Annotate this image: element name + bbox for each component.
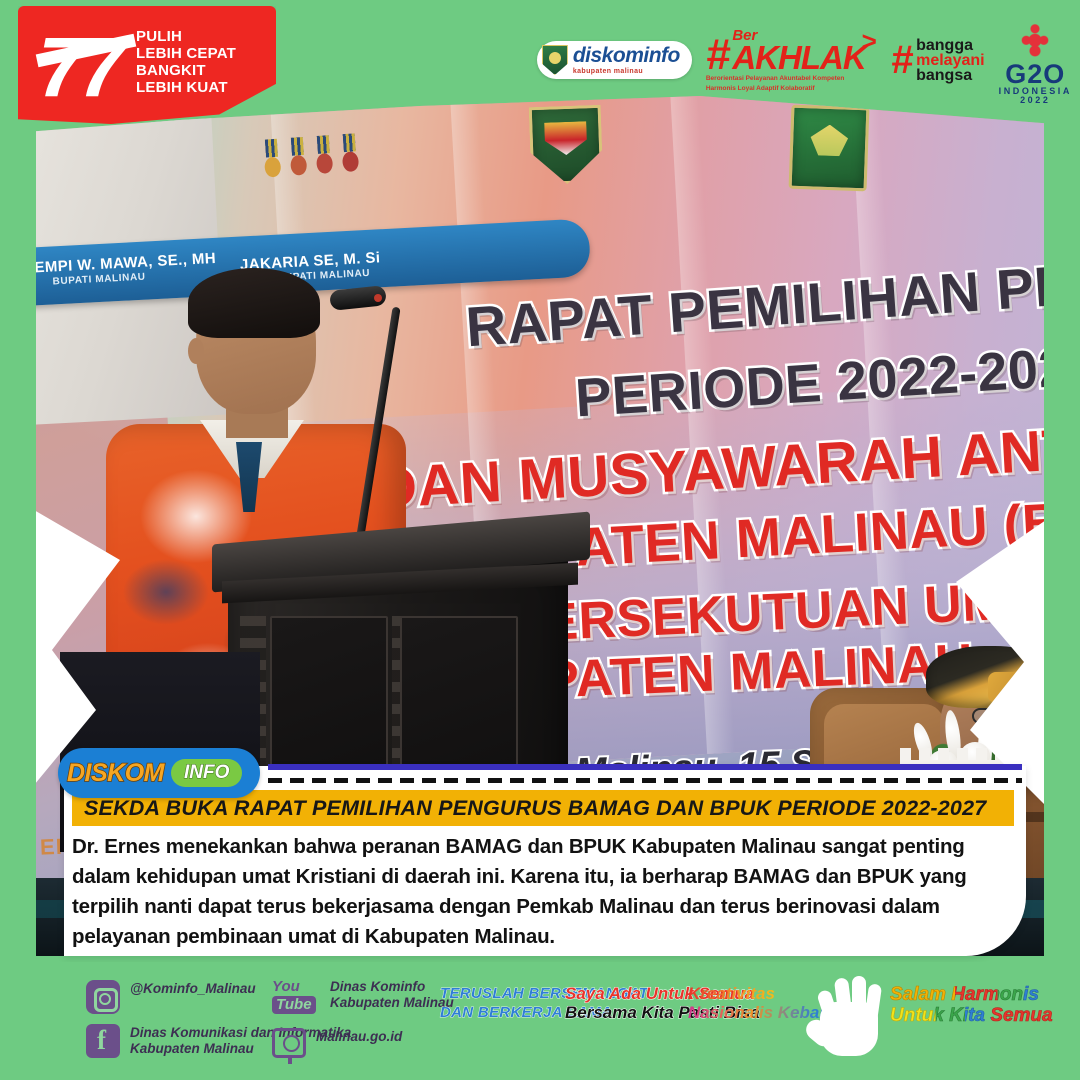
bangga-melayani-bangsa-logo: # bangga melayani bangsa xyxy=(891,38,985,83)
g20-ornament-icon xyxy=(1013,15,1057,61)
diskominfo-wordmark: diskominfo xyxy=(573,45,680,66)
akhlak-hash-icon: # xyxy=(706,37,730,73)
facebook-icon[interactable] xyxy=(86,1024,120,1058)
website-row[interactable]: Malinau.go.id xyxy=(272,1028,532,1058)
akhlak-arrow-icon: > xyxy=(862,28,877,54)
malinau-shield-icon xyxy=(542,45,568,75)
header-logo-row: diskominfo kabupaten malinau # Ber AKHLA… xyxy=(537,14,1072,106)
medal-icon xyxy=(316,153,333,174)
g20-wordmark: G2O xyxy=(1005,61,1065,87)
diskominfo-subtitle: kabupaten malinau xyxy=(573,68,680,75)
slogan-line-4: LEBIH KUAT xyxy=(136,79,236,96)
left-green-strip xyxy=(0,90,36,960)
slogan-line-1: PULIH xyxy=(136,28,236,45)
youtube-tube-text: Tube xyxy=(272,996,316,1014)
akhlak-tagline-1: Berorientasi Pelayanan Akuntabel Kompete… xyxy=(706,75,844,83)
g20-logo: G2O INDONESIA 2022 xyxy=(999,15,1072,105)
headline-text: SEKDA BUKA RAPAT PEMILIHAN PENGURUS BAMA… xyxy=(84,796,986,821)
akhlak-wordmark: AKHLAK xyxy=(732,43,865,73)
anniversary-slogan: PULIH LEBIH CEPAT BANGKIT LEBIH KUAT xyxy=(136,28,236,96)
infographic-canvas: RAPAT PEMILIHAN PENGURU PERIODE 2022-202… xyxy=(0,0,1080,1080)
akhlak-logo: # Ber AKHLAK > Berorientasi Pelayanan Ak… xyxy=(706,28,877,93)
diskominfo-badge: DISKOM INFO xyxy=(58,748,260,798)
info-pill: INFO xyxy=(171,759,242,787)
speaker-ear xyxy=(188,338,204,364)
bangga-line-2: melayani xyxy=(916,53,984,68)
anniversary-number: 77 xyxy=(38,24,134,110)
bangga-line-1: bangga xyxy=(916,38,984,53)
g20-year: 2022 xyxy=(1020,96,1050,105)
youtube-line-1: Dinas Kominfo xyxy=(330,979,425,994)
footer: @Kominfo_Malinau Dinas Komunikasi dan In… xyxy=(0,962,1080,1080)
bangga-line-3: bangsa xyxy=(916,68,984,83)
hand-palm xyxy=(820,1002,878,1056)
caption-body-text: Dr. Ernes menekankan bahwa peranan BAMAG… xyxy=(72,832,1002,952)
slogan-line-3: BANGKIT xyxy=(136,62,236,79)
medal-icon xyxy=(264,157,281,178)
right-green-strip xyxy=(1044,90,1080,960)
youtube-channel[interactable]: Dinas Kominfo Kabupaten Malinau xyxy=(330,978,454,1011)
medal-icon xyxy=(290,155,307,176)
speaker-hair xyxy=(188,268,320,338)
facebook-line-2: Kabupaten Malinau xyxy=(130,1041,254,1056)
diskom-word: DISKOM xyxy=(67,759,164,788)
medal-row xyxy=(261,128,374,182)
ministry-emblem-icon xyxy=(789,105,870,192)
medal-icon xyxy=(342,151,359,172)
instagram-icon[interactable] xyxy=(86,980,120,1014)
waving-hand-icon xyxy=(812,968,886,1056)
caption-rule-dashed xyxy=(268,778,1022,783)
youtube-icon[interactable]: You Tube xyxy=(272,978,320,1018)
diskominfo-logo: diskominfo kabupaten malinau xyxy=(537,41,692,79)
microphone-indicator xyxy=(374,294,382,302)
caption-rule-solid xyxy=(268,764,1022,770)
youtube-line-2: Kabupaten Malinau xyxy=(330,995,454,1010)
slogan-line-2: LEBIH CEPAT xyxy=(136,45,236,62)
akhlak-tagline-2: Harmonis Loyal Adaptif Kolaboratif xyxy=(706,85,815,93)
slogan-4-line-2: Untuk Kita Semua xyxy=(890,1005,1053,1026)
slogan-salam-harmonis: Salam Harmonis Untuk Kita Semua xyxy=(890,984,1053,1026)
bangga-hash-icon: # xyxy=(891,43,913,77)
youtube-you-text: You xyxy=(272,978,300,995)
instagram-handle[interactable]: @Kominfo_Malinau xyxy=(130,980,256,997)
anniversary-badge: 77 PULIH LEBIH CEPAT BANGKIT LEBIH KUAT xyxy=(18,6,276,124)
website-url[interactable]: Malinau.go.id xyxy=(316,1028,402,1045)
website-monitor-icon[interactable] xyxy=(272,1028,306,1058)
slogan-4-line-1: Salam Harmonis xyxy=(890,984,1053,1005)
